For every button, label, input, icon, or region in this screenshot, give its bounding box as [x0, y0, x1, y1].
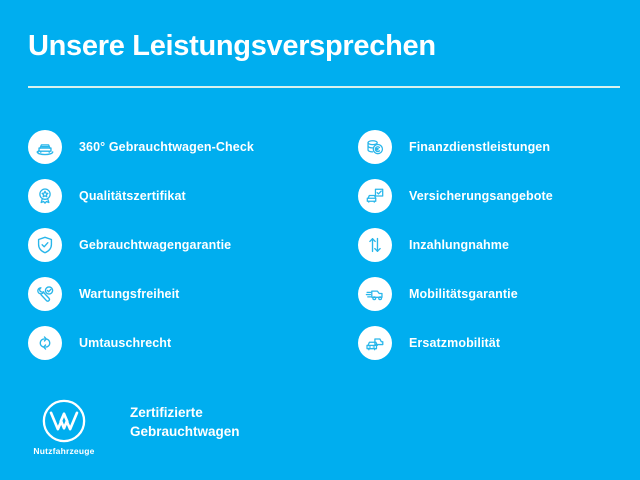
benefit-item-qualitaetszertifikat[interactable]: Qualitätszertifikat: [28, 171, 318, 220]
benefit-item-umtauschrecht[interactable]: Umtauschrecht: [28, 318, 318, 367]
page-title: Unsere Leistungsversprechen: [28, 30, 436, 63]
slide-canvas: Unsere Leistungsversprechen 360° Gebrauc…: [0, 0, 640, 480]
quality-seal-icon: [28, 179, 62, 213]
footer-claim-line1: Zertifizierte: [130, 404, 240, 423]
footer-claim-line2: Gebrauchtwagen: [130, 423, 240, 442]
benefit-item-finanzdienstleistungen[interactable]: Finanzdienstleistungen: [358, 122, 640, 171]
benefits-column-left: 360° Gebrauchtwagen-Check Qualitätszerti…: [28, 122, 318, 367]
tow-truck-icon: [358, 277, 392, 311]
benefit-label: Gebrauchtwagengarantie: [79, 238, 231, 252]
benefit-label: Qualitätszertifikat: [79, 189, 186, 203]
benefit-item-ersatzmobilitaet[interactable]: Ersatzmobilität: [358, 318, 640, 367]
exchange-arrows-icon: [28, 326, 62, 360]
car-360-check-icon: [28, 130, 62, 164]
two-cars-icon: [358, 326, 392, 360]
benefit-item-gebrauchtwagengarantie[interactable]: Gebrauchtwagengarantie: [28, 220, 318, 269]
title-divider: [28, 86, 620, 88]
arrows-up-down-icon: [358, 228, 392, 262]
car-document-check-icon: [358, 179, 392, 213]
footer-brand-block: Nutzfahrzeuge Zertifizierte Gebrauchtwag…: [28, 398, 240, 456]
benefit-label: Inzahlungnahme: [409, 238, 509, 252]
brand-lockup: Nutzfahrzeuge: [28, 398, 100, 456]
benefit-label: Umtauschrecht: [79, 336, 171, 350]
coins-euro-icon: [358, 130, 392, 164]
wrench-check-icon: [28, 277, 62, 311]
benefit-label: 360° Gebrauchtwagen-Check: [79, 140, 254, 154]
footer-claim: Zertifizierte Gebrauchtwagen: [130, 404, 240, 441]
benefit-label: Versicherungsangebote: [409, 189, 553, 203]
benefit-label: Finanzdienstleistungen: [409, 140, 550, 154]
benefit-label: Wartungsfreiheit: [79, 287, 179, 301]
benefits-column-right: Finanzdienstleistungen Versicherungsange…: [358, 122, 640, 367]
benefit-item-versicherungsangebote[interactable]: Versicherungsangebote: [358, 171, 640, 220]
benefit-item-mobilitaetsgarantie[interactable]: Mobilitätsgarantie: [358, 269, 640, 318]
benefit-item-gebrauchtwagen-check[interactable]: 360° Gebrauchtwagen-Check: [28, 122, 318, 171]
benefit-label: Mobilitätsgarantie: [409, 287, 518, 301]
brand-sub-label: Nutzfahrzeuge: [28, 446, 100, 456]
shield-check-icon: [28, 228, 62, 262]
benefit-item-inzahlungnahme[interactable]: Inzahlungnahme: [358, 220, 640, 269]
benefit-item-wartungsfreiheit[interactable]: Wartungsfreiheit: [28, 269, 318, 318]
benefit-label: Ersatzmobilität: [409, 336, 500, 350]
vw-logo-icon: [41, 398, 87, 444]
